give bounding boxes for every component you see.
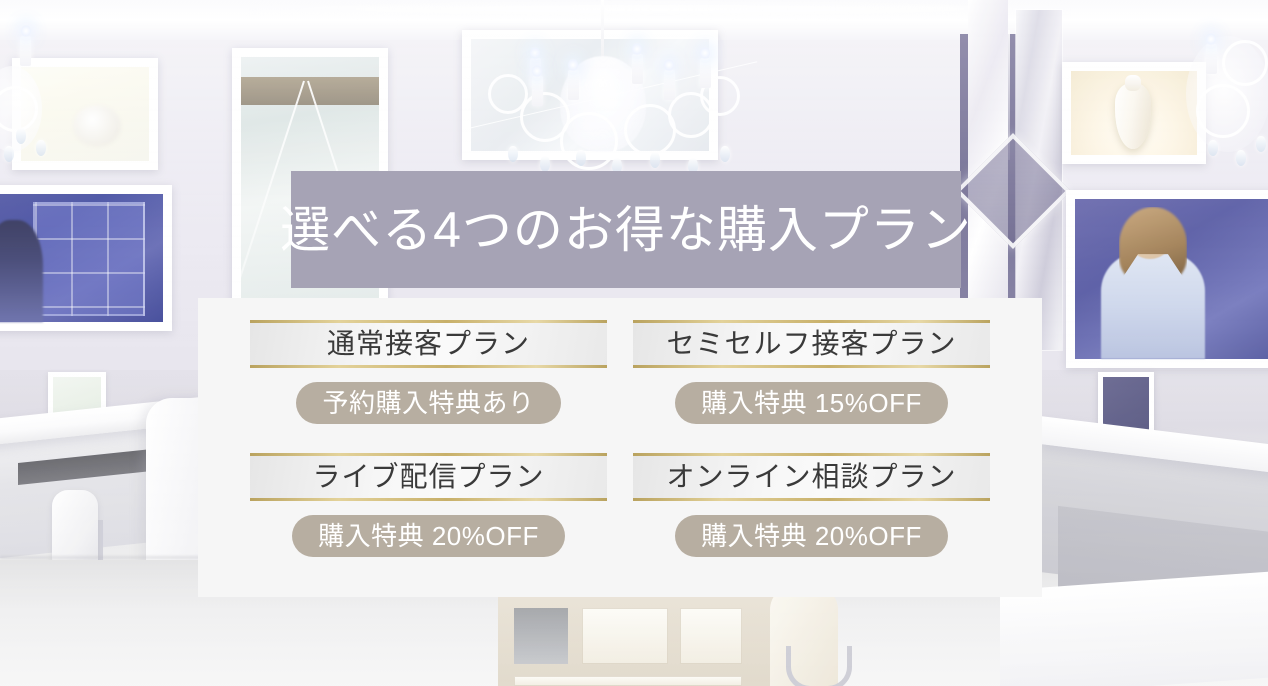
crystal-drop (4, 146, 14, 162)
chandelier-candle (632, 54, 643, 84)
chandelier-stem (601, 0, 604, 64)
cove-light (250, 2, 1070, 16)
crystal-drop (576, 150, 586, 166)
chandelier-candle (700, 58, 711, 88)
bench-chair-leg (786, 646, 852, 686)
plan-card-online-consult[interactable]: オンライン相談プラン 購入特典 20%OFF (633, 453, 990, 574)
chandelier-candle (664, 70, 675, 100)
chandelier-flame (632, 42, 642, 56)
sconce-swirl (1196, 84, 1250, 138)
chandelier-flame (532, 64, 542, 78)
plan-benefit-badge: 購入特典 20%OFF (292, 515, 565, 557)
mirror-reflection-blob (73, 105, 121, 147)
bench-shelf (514, 676, 742, 686)
page-title: 選べる4つのお得な購入プラン (280, 205, 972, 255)
chandelier-swirl (488, 74, 528, 114)
vase-niche (1062, 62, 1206, 164)
plan-heading: オンライン相談プラン (633, 453, 990, 501)
crystal-drop (540, 156, 550, 172)
plan-name: 通常接客プラン (327, 330, 530, 358)
plan-heading: ライブ配信プラン (250, 453, 607, 501)
chandelier-swirl (560, 112, 618, 170)
crystal-drop (36, 140, 46, 156)
bench-cushion (582, 608, 668, 664)
plan-name: セミセルフ接客プラン (666, 330, 956, 358)
crystal-drop (16, 128, 26, 144)
plan-name: オンライン相談プラン (666, 463, 956, 491)
chandelier-flame (664, 58, 674, 72)
chandelier-candle (532, 76, 543, 106)
chandelier-flame (700, 46, 710, 60)
bench-dark-panel (514, 608, 568, 664)
sconce-candle (1206, 44, 1217, 74)
plan-benefit-label: 予約購入特典あり (322, 390, 534, 416)
framed-monitor-right (1066, 190, 1268, 368)
plan-card-live-stream[interactable]: ライブ配信プラン 購入特典 20%OFF (250, 453, 607, 574)
bench-cushion (680, 608, 742, 664)
crystal-drop (1236, 150, 1246, 166)
plan-card-regular[interactable]: 通常接客プラン 予約購入特典あり (250, 320, 607, 441)
plan-heading: 通常接客プラン (250, 320, 607, 368)
crystal-drop (508, 146, 518, 162)
chandelier-flame (530, 46, 540, 60)
sconce-swirl (1222, 40, 1268, 86)
plan-benefit-label: 購入特典 20%OFF (318, 523, 539, 549)
plan-benefit-label: 購入特典 15%OFF (701, 390, 922, 416)
framed-monitor-left (0, 185, 172, 331)
plan-name: ライブ配信プラン (312, 463, 544, 491)
bench-shelving-unit (498, 596, 788, 686)
plan-card-semi-self[interactable]: セミセルフ接客プラン 購入特典 15%OFF (633, 320, 990, 441)
chandelier-candle (568, 70, 579, 100)
plan-heading: セミセルフ接客プラン (633, 320, 990, 368)
plans-panel: 通常接客プラン 予約購入特典あり セミセルフ接客プラン 購入特典 15%OFF … (198, 298, 1042, 597)
candle-left (20, 36, 31, 66)
vase-neck (1125, 75, 1141, 91)
monitor-window-reflection (33, 202, 145, 316)
crystal-drop (1256, 136, 1266, 152)
monitor-person-silhouette (0, 220, 43, 322)
monitor-person-body (1101, 253, 1205, 359)
hero-banner-stage: 選べる4つのお得な購入プラン 通常接客プラン 予約購入特典あり セミセルフ接客プ… (0, 0, 1268, 686)
crystal-drop (720, 146, 730, 162)
hero-title-banner: 選べる4つのお得な購入プラン (291, 171, 961, 288)
crystal-drop (1208, 140, 1218, 156)
flame-left (21, 24, 31, 38)
plan-benefit-badge: 購入特典 20%OFF (675, 515, 948, 557)
sconce-flame (1206, 32, 1216, 46)
chandelier-flame (568, 58, 578, 72)
plan-benefit-label: 購入特典 20%OFF (701, 523, 922, 549)
plan-benefit-badge: 購入特典 15%OFF (675, 382, 948, 424)
plan-benefit-badge: 予約購入特典あり (296, 382, 560, 424)
crystal-drop (650, 152, 660, 168)
